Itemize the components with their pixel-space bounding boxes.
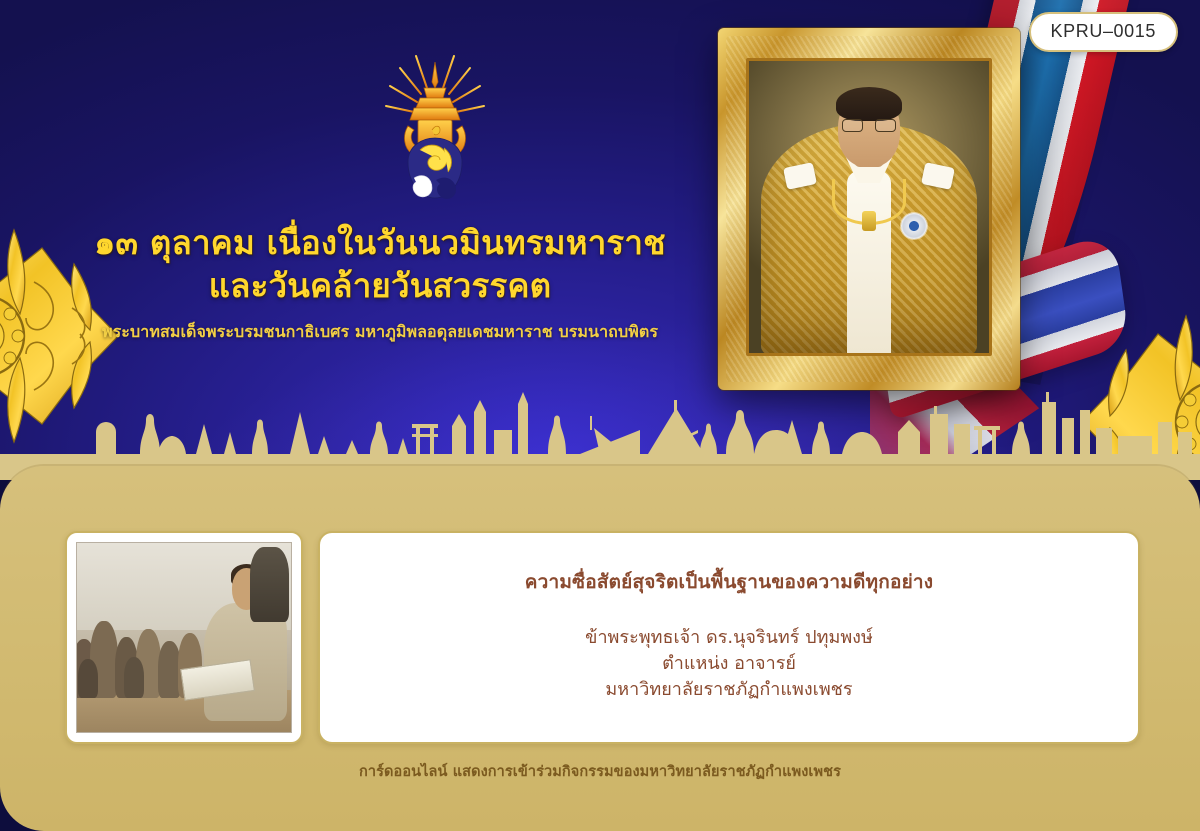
title-subtitle: พระบาทสมเด็จพระบรมชนกาธิเบศร มหาภูมิพลอด… [40,320,720,345]
royal-portrait-frame [718,28,1020,390]
title-block: ๑๓ ตุลาคม เนื่องในวันนวมินทรมหาราช และวั… [40,222,720,345]
card-id-badge: KPRU–0015 [1029,12,1178,52]
quote-text: ความซื่อสัตย์สุจริตเป็นพื้นฐานของความดีท… [525,567,934,597]
eyeglasses-icon [842,119,896,132]
royal-order-star-icon [901,213,927,239]
royal-cypher-emblem-icon [374,42,496,210]
message-card: ความซื่อสัตย์สุจริตเป็นพื้นฐานของความดีท… [318,531,1140,744]
signer-name: ข้าพระพุทธเจ้า ดร.นุจรินทร์ ปทุมพงษ์ [585,625,873,651]
signer-organization: มหาวิทยาลัยราชภัฏกำแพงเพชร [605,677,852,703]
commemorative-card: ๑๓ ตุลาคม เนื่องในวันนวมินทรมหาราช และวั… [0,0,1200,831]
title-line-1: ๑๓ ตุลาคม เนื่องในวันนวมินทรมหาราช [40,222,720,265]
hero-banner: ๑๓ ตุลาคม เนื่องในวันนวมินทรมหาราช และวั… [0,0,1200,480]
royal-portrait-image [746,58,992,356]
title-line-2: และวันคล้ายวันสวรรคต [40,265,720,308]
royal-activity-photo [65,531,303,744]
signer-position: ตำแหน่ง อาจารย์ [662,651,796,677]
footnote-text: การ์ดออนไลน์ แสดงการเข้าร่วมกิจกรรมของมห… [0,760,1200,783]
